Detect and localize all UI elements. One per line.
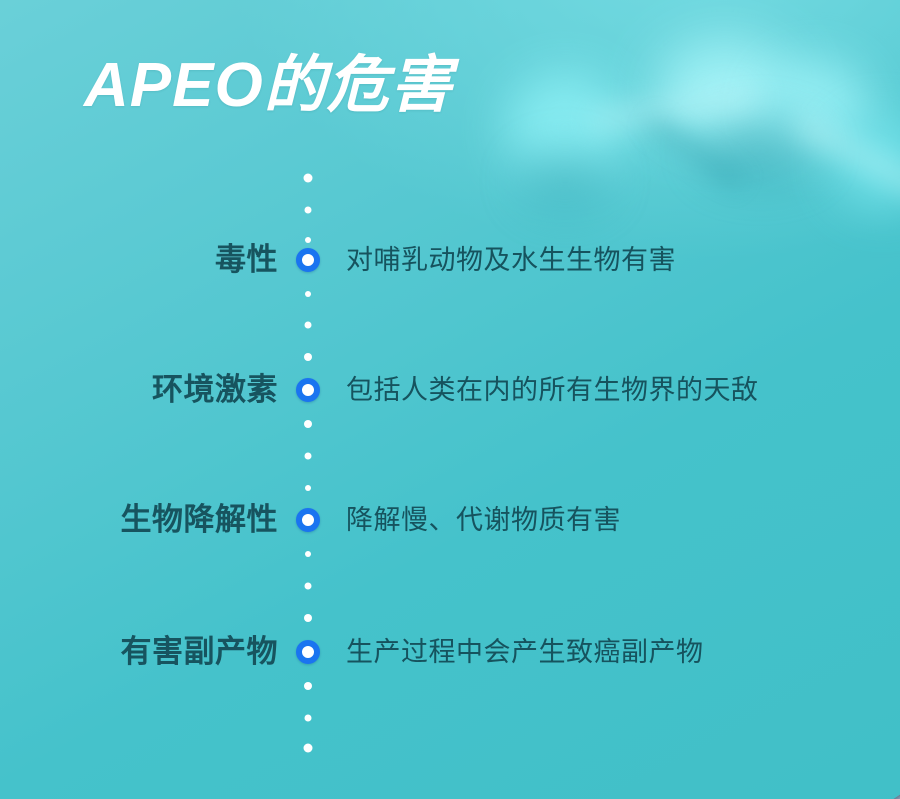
hazard-description: 对哺乳动物及水生生物有害 xyxy=(346,234,676,286)
hazard-description: 降解慢、代谢物质有害 xyxy=(346,494,621,546)
hazard-description: 生产过程中会产生致癌副产物 xyxy=(346,626,704,678)
hazard-description: 包括人类在内的所有生物界的天敌 xyxy=(346,364,759,416)
timeline-dot xyxy=(304,353,312,361)
timeline-dot xyxy=(305,453,312,460)
timeline-dot xyxy=(305,485,311,491)
hazard-row: 毒性对哺乳动物及水生生物有害 xyxy=(0,234,900,286)
hazard-label: 生物降解性 xyxy=(0,494,278,546)
hazard-label: 环境激素 xyxy=(0,364,278,416)
timeline-dot xyxy=(304,744,313,753)
timeline-dot xyxy=(305,322,312,329)
infographic-canvas: APEO的危害 毒性对哺乳动物及水生生物有害环境激素包括人类在内的所有生物界的天… xyxy=(0,0,900,799)
hazard-label: 毒性 xyxy=(0,234,278,286)
timeline-dot xyxy=(305,291,311,297)
timeline-dot xyxy=(304,614,312,622)
timeline-dot xyxy=(304,174,313,183)
timeline-dot xyxy=(304,420,312,428)
timeline-dot xyxy=(305,583,312,590)
hazard-row: 环境激素包括人类在内的所有生物界的天敌 xyxy=(0,364,900,416)
timeline-dot xyxy=(304,682,312,690)
timeline-dot xyxy=(305,551,311,557)
timeline-dot xyxy=(305,715,312,722)
hazard-row: 有害副产物生产过程中会产生致癌副产物 xyxy=(0,626,900,678)
hazard-row: 生物降解性降解慢、代谢物质有害 xyxy=(0,494,900,546)
hazard-label: 有害副产物 xyxy=(0,626,278,678)
timeline-dot xyxy=(305,207,312,214)
